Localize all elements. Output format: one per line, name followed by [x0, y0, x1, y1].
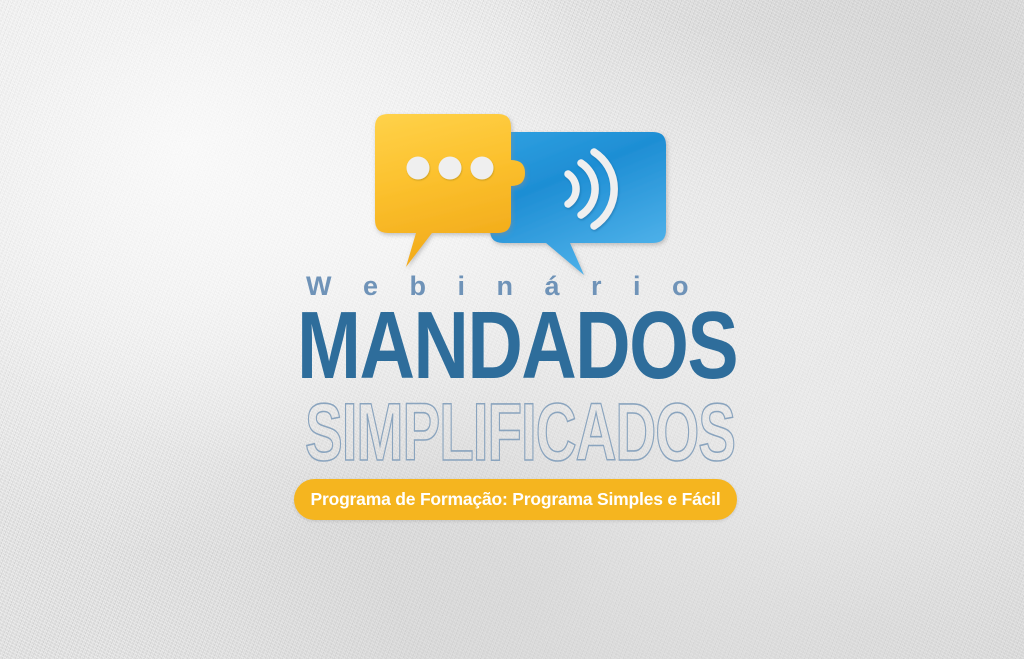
title-line-simplificados: SIMPLIFICADOS [305, 392, 735, 474]
program-banner[interactable]: Programa de Formação: Programa Simples e… [294, 479, 737, 520]
footer-logo-strip: PODER JUDICIÁRIO Tribunal de Justiça do … [0, 560, 1024, 620]
puzzle-speech-bubbles-logo [370, 112, 674, 282]
program-banner-label: Programa de Formação: Programa Simples e… [311, 489, 721, 510]
title-mandados-text: MANDADOS [297, 298, 737, 394]
poster-canvas: W e b i n á r i o MANDADOS SIMPLIFICADOS… [0, 0, 1024, 659]
title-simplificados-text: SIMPLIFICADOS [305, 392, 735, 474]
blue-speech-bubble [490, 132, 666, 275]
yellow-speech-bubble [375, 114, 525, 267]
three-dots-icon [407, 157, 494, 180]
title-line-mandados: MANDADOS [297, 298, 737, 394]
